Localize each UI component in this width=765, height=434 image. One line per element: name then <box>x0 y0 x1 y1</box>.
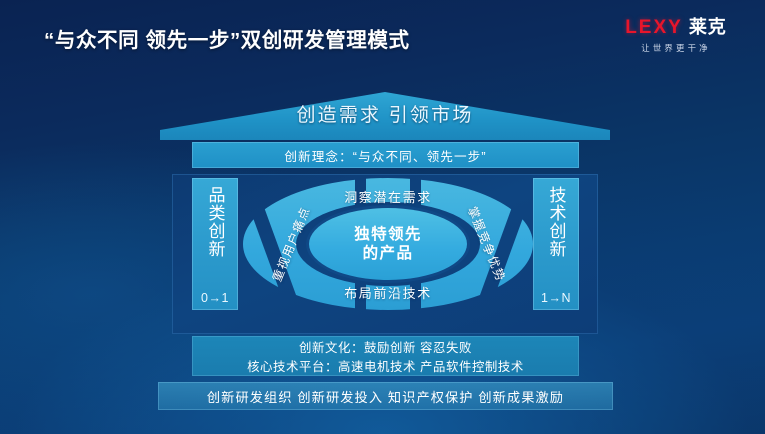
house-diagram: 创造需求 引领市场 创新理念：“与众不同、领先一步” 品类创新 0→1 技术创新… <box>0 92 765 434</box>
pillar-left-label: 品类创新 <box>205 186 224 258</box>
brand-logo: LEXY 莱克 让世界更干净 <box>601 13 751 54</box>
culture-line-2: 核心技术平台：高速电机技术 产品软件控制技术 <box>247 357 524 375</box>
core-label: 独特领先 的产品 <box>354 225 422 264</box>
pillar-category-innovation: 品类创新 0→1 <box>192 178 238 310</box>
core-label-line1: 独特领先 <box>354 226 422 243</box>
rings-group: 洞察潜在需求 布局前沿技术 重视用户痛点 掌握竞争优势 独特领先 的产品 <box>243 178 533 310</box>
ring-label-top: 洞察潜在需求 <box>243 187 533 206</box>
page-title: “与众不同 领先一步”双创研发管理模式 <box>44 23 410 53</box>
logo-chinese-wordmark: 莱克 <box>689 13 727 39</box>
culture-platform-block: 创新文化：鼓励创新 容忍失败 核心技术平台：高速电机技术 产品软件控制技术 <box>192 336 579 376</box>
ring-label-bottom: 布局前沿技术 <box>243 283 533 302</box>
innovation-concept-bar: 创新理念：“与众不同、领先一步” <box>192 142 579 168</box>
logo-latin-wordmark: LEXY <box>625 17 683 39</box>
innovation-concept-text: 创新理念：“与众不同、领先一步” <box>284 146 486 165</box>
pillar-right-range: 1→N <box>533 291 579 305</box>
roof-label: 创造需求 引领市场 <box>160 100 610 127</box>
foundation-bar-text: 创新研发组织 创新研发投入 知识产权保护 创新成果激励 <box>207 387 564 406</box>
pillar-right-label: 技术创新 <box>546 186 565 258</box>
core-label-line2: 的产品 <box>363 245 414 262</box>
slide-header: “与众不同 领先一步”双创研发管理模式 LEXY 莱克 让世界更干净 <box>0 0 765 62</box>
logo-wordmark-row: LEXY 莱克 <box>601 13 751 39</box>
foundation-bar: 创新研发组织 创新研发投入 知识产权保护 创新成果激励 <box>158 382 613 410</box>
pillar-left-range: 0→1 <box>192 291 238 305</box>
diagram-roof: 创造需求 引领市场 <box>160 92 610 140</box>
culture-line-1: 创新文化：鼓励创新 容忍失败 <box>299 338 472 356</box>
pillar-technology-innovation: 技术创新 1→N <box>533 178 579 310</box>
logo-tagline: 让世界更干净 <box>601 42 751 54</box>
core-ellipse: 独特领先 的产品 <box>309 208 467 280</box>
